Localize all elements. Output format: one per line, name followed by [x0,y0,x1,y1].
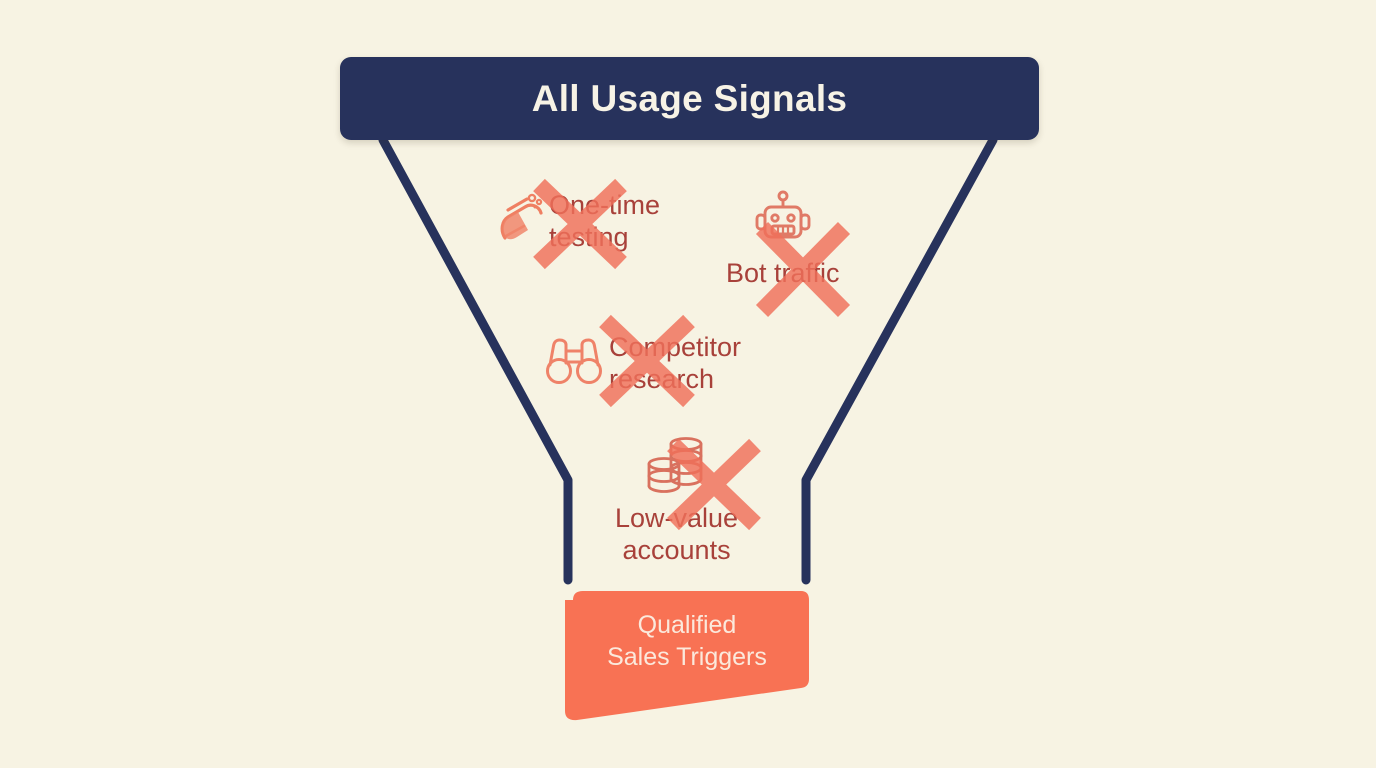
rejected-item-bot-traffic: Bot traffic [726,189,840,290]
binoculars-icon [545,335,603,392]
rejected-item-label: Bot traffic [726,258,840,290]
funnel-output: Qualified Sales Triggers [563,589,811,722]
test-tube-icon [497,190,543,253]
output-label: Qualified Sales Triggers [563,609,811,673]
funnel-diagram: All Usage Signals One-time testing [0,0,1376,768]
rejected-item-one-time-testing: One-time testing [497,190,699,254]
robot-icon [752,189,814,256]
rejected-item-competitor-research: Competitor research [545,332,781,396]
rejected-item-label: One-time testing [549,190,699,254]
rejected-item-low-value-accounts: Low-value accounts [615,434,738,567]
page-title: All Usage Signals [532,80,848,117]
funnel-header: All Usage Signals [340,57,1039,140]
coins-icon [642,434,712,501]
rejected-item-label: Low-value accounts [615,503,738,567]
rejected-item-label: Competitor research [609,332,781,396]
